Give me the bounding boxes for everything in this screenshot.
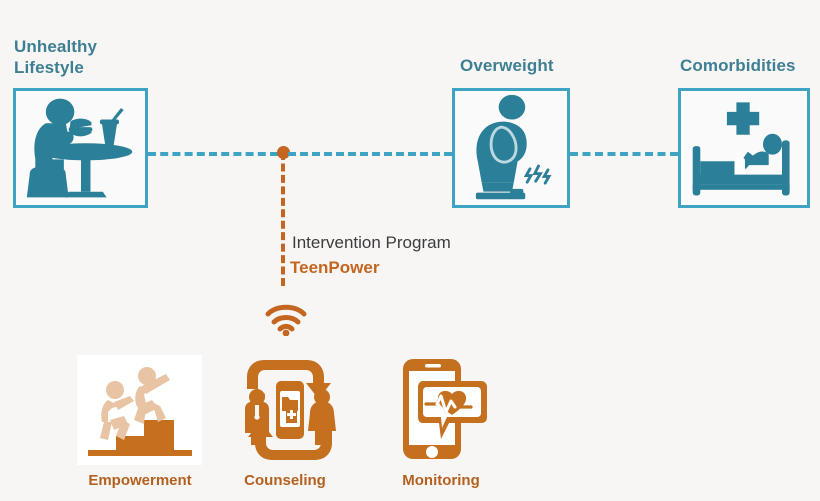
connector-lifestyle-to-overweight (148, 152, 278, 156)
two-people-climbing-stairs-icon (80, 358, 200, 463)
connector-overweight-to-comorbidities (570, 152, 678, 156)
connector-intervention-branch (281, 152, 285, 286)
empowerment-label: Empowerment (60, 472, 220, 490)
wifi-icon (264, 302, 308, 336)
smartphone-heart-rate-bubble-icon (391, 355, 491, 465)
connector-branch-to-overweight (288, 152, 452, 156)
panel-comorbidities (678, 88, 810, 208)
empowerment-card (80, 358, 200, 463)
teenpower-label: TeenPower (290, 257, 379, 279)
panel-unhealthy-lifestyle (13, 88, 148, 208)
panel-overweight (452, 88, 570, 208)
patient-in-hospital-bed-icon (681, 91, 807, 205)
panel-title-overweight: Overweight (460, 55, 620, 76)
counseling-card (237, 355, 342, 465)
doctor-patient-phone-exchange-icon (237, 355, 342, 465)
counseling-label: Counseling (205, 472, 365, 490)
monitoring-card (391, 355, 491, 465)
intervention-program-label: Intervention Program (292, 232, 451, 254)
monitoring-label: Monitoring (361, 472, 521, 490)
person-eating-fast-food-at-table-icon (16, 91, 145, 205)
diagram-canvas: Unhealthy Lifestyle (0, 0, 820, 501)
overweight-person-on-scale-icon (455, 91, 567, 205)
panel-title-unhealthy-lifestyle: Unhealthy Lifestyle (14, 36, 154, 78)
panel-title-comorbidities: Comorbidities (680, 55, 820, 76)
